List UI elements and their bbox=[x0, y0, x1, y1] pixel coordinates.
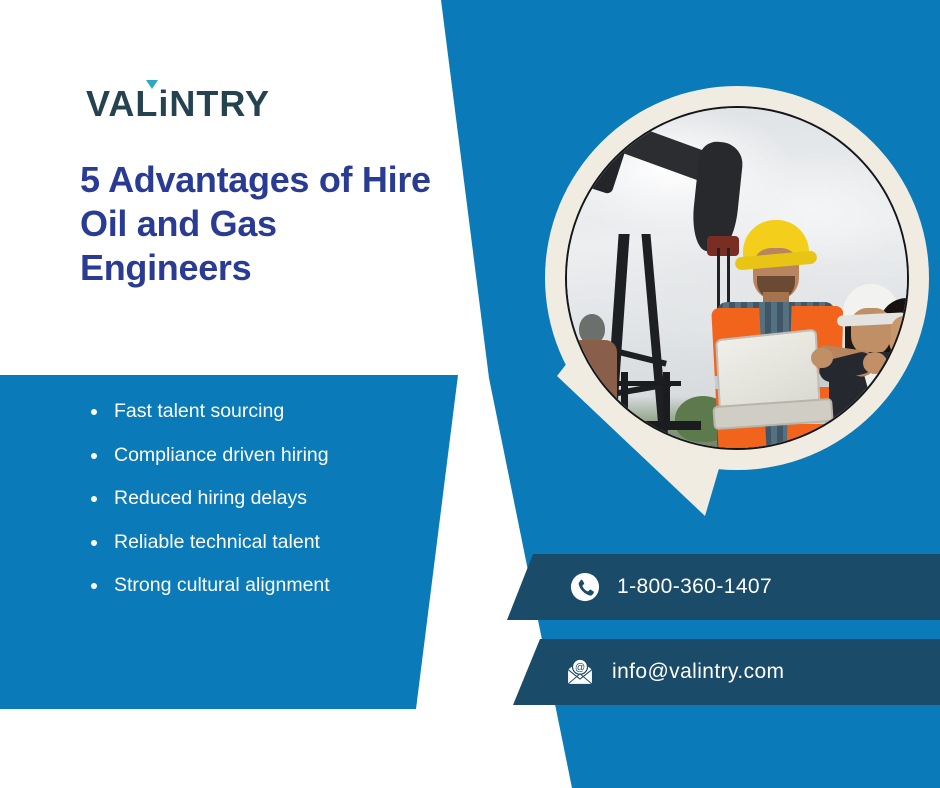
email-address: info@valintry.com bbox=[612, 660, 784, 684]
phone-icon bbox=[570, 572, 600, 602]
colleague-pointing-hand bbox=[811, 348, 833, 368]
list-item: Fast talent sourcing bbox=[88, 402, 428, 422]
logo-triangle-accent-icon bbox=[146, 80, 158, 89]
background-person-body bbox=[569, 340, 617, 450]
list-item: Strong cultural alignment bbox=[88, 576, 428, 596]
worker-hand bbox=[863, 352, 887, 374]
page-title: 5 Advantages of Hire Oil and Gas Enginee… bbox=[80, 158, 440, 290]
photo-speech-bubble bbox=[513, 76, 937, 520]
colleague-face bbox=[891, 316, 909, 360]
phone-number: 1-800-360-1407 bbox=[617, 575, 772, 599]
list-item: Reliable technical talent bbox=[88, 533, 428, 553]
contact-phone-bar[interactable]: 1-800-360-1407 bbox=[507, 554, 940, 620]
poster-canvas: VALiNTRY 5 Advantages of Hire Oil and Ga… bbox=[0, 0, 940, 788]
benefits-list: Fast talent sourcing Compliance driven h… bbox=[88, 402, 428, 620]
email-icon: @ bbox=[565, 657, 595, 687]
contact-email-bar[interactable]: @ info@valintry.com bbox=[507, 639, 940, 705]
list-item: Compliance driven hiring bbox=[88, 446, 428, 466]
list-item: Reduced hiring delays bbox=[88, 489, 428, 509]
svg-text:@: @ bbox=[575, 663, 585, 674]
pumpjack-clamp bbox=[707, 236, 739, 256]
engineers-photo bbox=[565, 106, 909, 450]
valintry-logo: VALiNTRY bbox=[86, 80, 270, 122]
logo-wordmark: VALiNTRY bbox=[86, 86, 270, 122]
